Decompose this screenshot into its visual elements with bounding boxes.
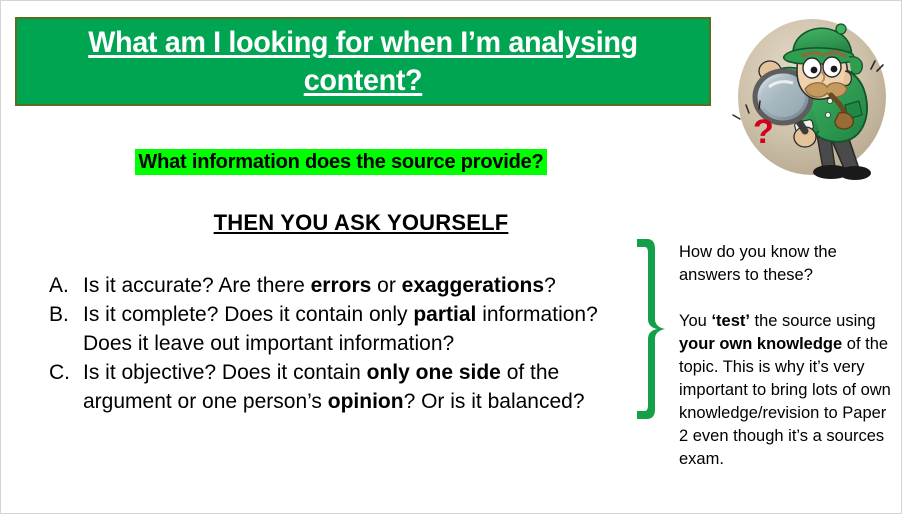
emphasis-text: errors <box>311 274 372 297</box>
emphasis-text: opinion <box>328 390 404 413</box>
question-list-item: B.Is it complete? Does it contain only p… <box>49 300 649 329</box>
plain-text: information? <box>476 303 597 326</box>
plain-text: ? Or is it balanced? <box>404 390 585 413</box>
plain-text: Is it objective? Does it contain <box>83 361 367 384</box>
emphasis-text: partial <box>413 303 476 326</box>
plain-text: Is it accurate? Are there <box>83 274 311 297</box>
plain-text: the source using <box>750 312 876 330</box>
question-text: Is it accurate? Are there errors or exag… <box>83 271 649 300</box>
plain-text: You <box>679 312 711 330</box>
question-text-continuation: Does it leave out important information? <box>83 329 649 358</box>
emphasis-text: exaggerations <box>402 274 544 297</box>
side-note-paragraph-2: You ‘test’ the source using your own kno… <box>679 310 893 471</box>
title-banner: What am I looking for when I’m analysing… <box>15 17 711 106</box>
plain-text: argument or one person’s <box>83 390 328 413</box>
side-note: How do you know the answers to these? Yo… <box>679 241 893 471</box>
question-text-continuation: argument or one person’s opinion? Or is … <box>83 387 649 416</box>
question-list: A.Is it accurate? Are there errors or ex… <box>49 271 649 416</box>
question-marker: C. <box>49 358 83 387</box>
then-ask-yourself-heading: THEN YOU ASK YOURSELF <box>214 209 509 238</box>
detective-shoe-right <box>839 166 871 180</box>
question-text: Is it complete? Does it contain only par… <box>83 300 649 329</box>
question-text: Is it objective? Does it contain only on… <box>83 358 649 387</box>
subtitle-row: What information does the source provide… <box>1 149 681 175</box>
svg-text:?: ? <box>753 113 774 151</box>
question-marker: B. <box>49 300 83 329</box>
plain-text: of the <box>501 361 559 384</box>
plain-text: Is it complete? Does it contain only <box>83 303 413 326</box>
slide-canvas: What am I looking for when I’m analysing… <box>0 0 902 514</box>
plain-text: ? <box>544 274 556 297</box>
question-marker: A. <box>49 271 83 300</box>
plain-text: of the topic. This is why it’s very impo… <box>679 335 891 468</box>
emphasis-text: ‘test’ <box>711 312 750 330</box>
then-heading-row: THEN YOU ASK YOURSELF <box>1 209 721 238</box>
question-list-item: A.Is it accurate? Are there errors or ex… <box>49 271 649 300</box>
detective-moustache <box>805 83 847 97</box>
subtitle-highlighted: What information does the source provide… <box>135 149 546 175</box>
detective-illustration: ? <box>719 9 897 195</box>
plain-text: Does it leave out important information? <box>83 332 454 355</box>
emphasis-text: only one side <box>367 361 501 384</box>
side-note-spacer <box>679 287 893 310</box>
question-list-item: C.Is it objective? Does it contain only … <box>49 358 649 387</box>
page-title: What am I looking for when I’m analysing… <box>31 24 695 100</box>
emphasis-text: your own knowledge <box>679 335 842 353</box>
plain-text: or <box>371 274 401 297</box>
side-note-paragraph-1: How do you know the answers to these? <box>679 241 893 287</box>
green-curly-brace <box>631 235 667 423</box>
